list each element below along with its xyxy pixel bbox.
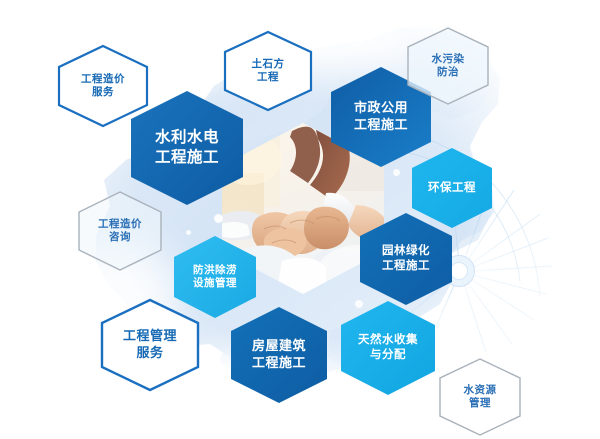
hex-engineering-cost-consulting[interactable]: 工程造价 咨询	[76, 190, 164, 272]
bokeh-node	[214, 214, 223, 223]
hex-water-resources-management[interactable]: 水资源 管理	[437, 357, 523, 437]
hex-water-pollution-control[interactable]: 水污染 防治	[405, 26, 491, 106]
hex-natural-water-collection-distribution[interactable]: 天然水收集 与分配	[339, 300, 437, 396]
hex-landscaping-engineering-construction[interactable]: 园林绿化 工程施工	[358, 212, 454, 306]
hex-water-conservancy-hydropower-construction[interactable]: 水利水电 工程施工	[129, 90, 245, 206]
bokeh-node	[393, 169, 400, 176]
infographic-canvas: 工程造价 服务 土石方 工程 水利水电 工程施工 市政公用 工程施工 水污染 防…	[0, 0, 600, 439]
hex-engineering-management-service[interactable]: 工程管理 服务	[99, 298, 201, 392]
hex-building-construction-engineering[interactable]: 房屋建筑 工程施工	[229, 306, 329, 404]
